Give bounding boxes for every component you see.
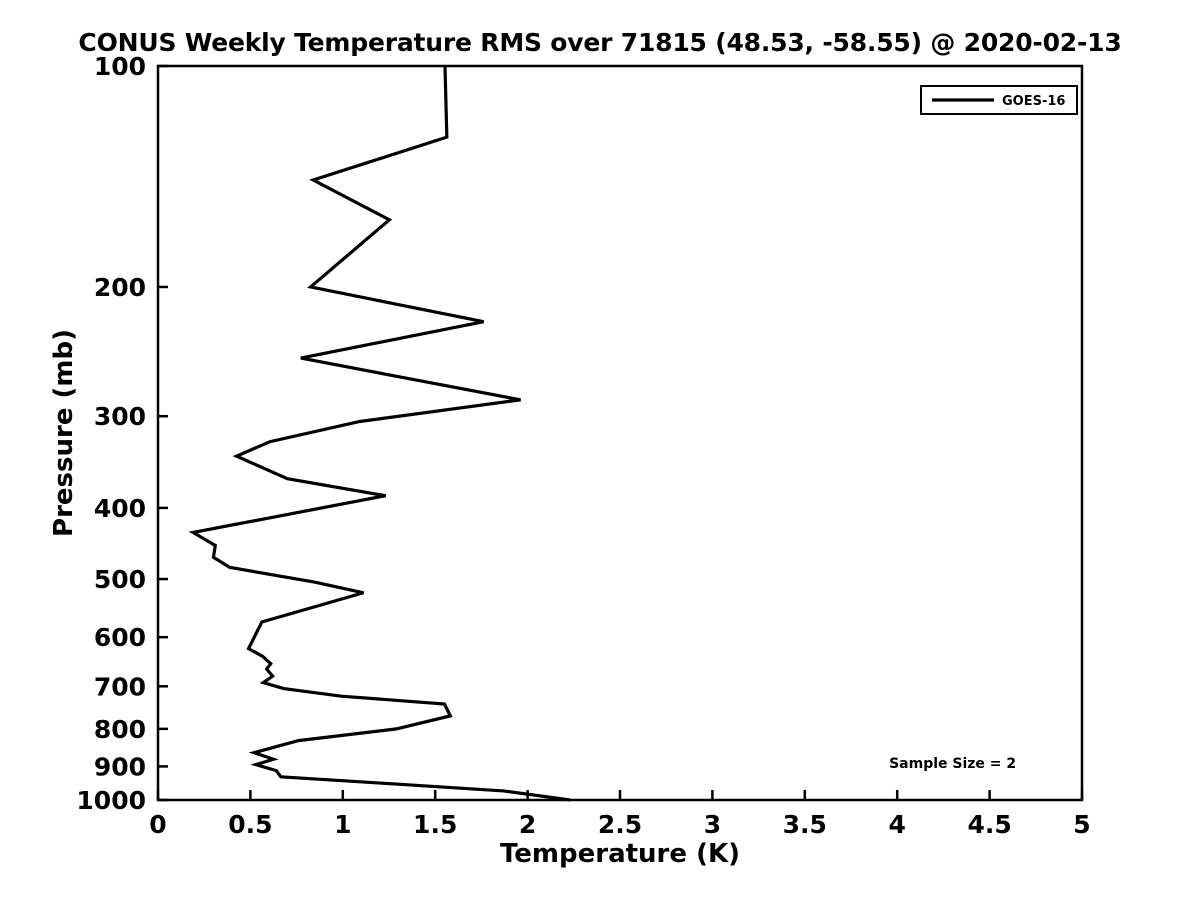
x-tick-label: 1.5 [413,810,457,839]
x-tick-label: 4.5 [967,810,1011,839]
sample-size-label: Sample Size = 2 [889,756,1016,772]
x-tick-label: 2.5 [598,810,642,839]
y-axis-title: Pressure (mb) [49,329,79,537]
y-tick-label: 500 [94,565,146,594]
y-tick-label: 900 [94,752,146,781]
temperature-rms-profile-plot: 00.511.522.533.544.55 100200300400500600… [0,0,1200,900]
x-tick-label: 5 [1073,810,1090,839]
series-line-goes-16 [193,66,570,800]
x-axis-ticks [158,790,1082,800]
x-tick-label: 0 [149,810,166,839]
annotation-group: Sample Size = 2 [889,756,1016,772]
y-axis-ticks [158,66,168,800]
y-tick-label: 700 [94,672,146,701]
x-tick-label: 1 [334,810,351,839]
legend-label-goes-16: GOES-16 [1002,94,1065,109]
y-tick-label: 300 [94,402,146,431]
y-tick-label: 200 [94,273,146,302]
y-tick-label: 100 [94,52,146,81]
x-tick-label: 3 [704,810,721,839]
x-axis-title: Temperature (K) [500,839,740,869]
y-tick-label: 1000 [76,786,146,815]
y-tick-label: 800 [94,715,146,744]
chart-figure: CONUS Weekly Temperature RMS over 71815 … [0,0,1200,900]
x-tick-label: 0.5 [228,810,272,839]
x-tick-label: 4 [888,810,905,839]
x-axis-tick-labels: 00.511.522.533.544.55 [149,810,1090,839]
y-tick-label: 400 [94,494,146,523]
y-axis-tick-labels: 1002003004005006007008009001000 [76,52,146,815]
x-tick-label: 3.5 [783,810,827,839]
data-series-group [193,66,570,800]
y-tick-label: 600 [94,623,146,652]
x-tick-label: 2 [519,810,536,839]
legend[interactable]: GOES-16 [921,86,1077,114]
